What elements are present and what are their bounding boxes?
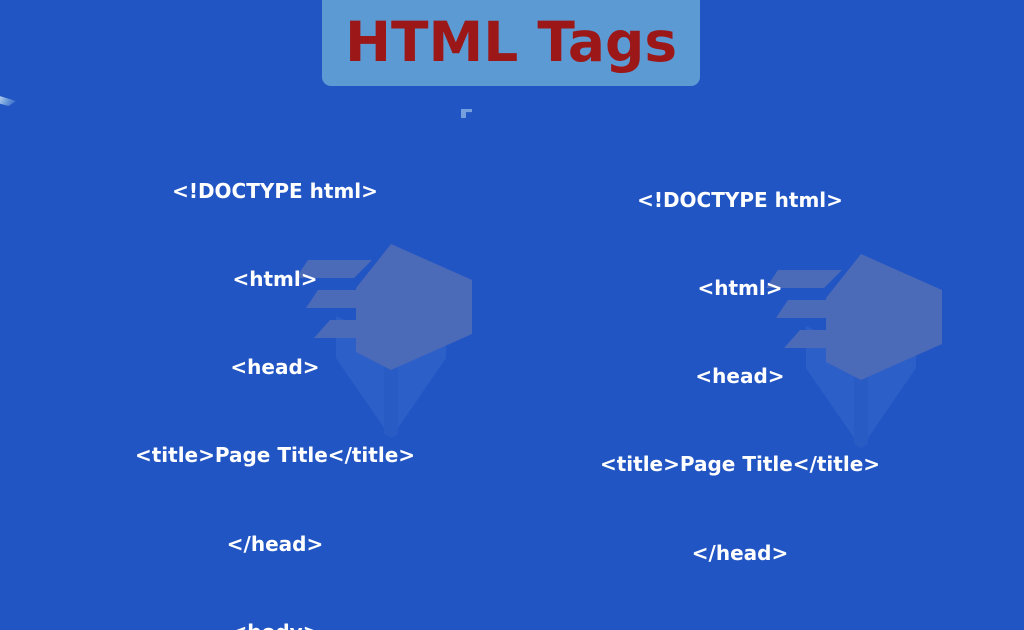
code-line: </head> (530, 539, 950, 568)
code-line: <html> (530, 274, 950, 303)
code-line: <html> (65, 265, 485, 294)
code-line: <head> (65, 353, 485, 382)
code-line: <title>Page Title</title> (530, 450, 950, 479)
code-block-left: <!DOCTYPE html> <html> <head> <title>Pag… (65, 118, 485, 630)
code-line: </head> (65, 530, 485, 559)
code-line: <head> (530, 362, 950, 391)
code-line: <!DOCTYPE html> (65, 177, 485, 206)
light-blue-speck-mid (461, 109, 472, 118)
light-blue-speck-left-edge (0, 95, 16, 106)
title-bar: HTML Tags (322, 0, 700, 86)
code-block-right: <!DOCTYPE html> <html> <head> <title>Pag… (530, 127, 950, 630)
code-line: <body> (65, 618, 485, 630)
code-line: <title>Page Title</title> (65, 441, 485, 470)
code-line: <!DOCTYPE html> (530, 186, 950, 215)
slide-canvas: HTML Tags <!DOCTYPE html> <html> <head> … (0, 0, 1024, 630)
page-title: HTML Tags (345, 15, 677, 70)
